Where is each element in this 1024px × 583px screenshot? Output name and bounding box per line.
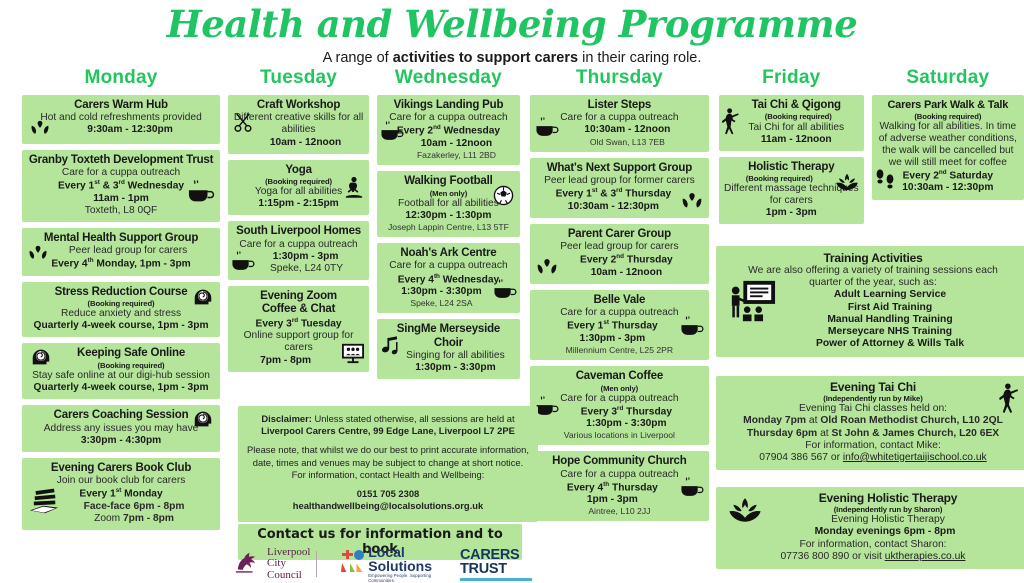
- liver-bird-icon: [232, 549, 262, 580]
- card-desc: Care for a cuppa outreach: [535, 469, 704, 481]
- card-time: 1:30pm - 3pm: [535, 333, 704, 345]
- card-desc: Care for a cuppa outreach: [535, 112, 704, 124]
- disclaimer-box: Disclaimer: Unless stated otherwise, all…: [238, 406, 538, 522]
- card-stress-reduction[interactable]: Stress Reduction Course (Booking require…: [22, 282, 220, 338]
- ct-line2: TRUST: [460, 562, 532, 577]
- card-caveman-coffee[interactable]: Caveman Coffee (Men only) Care for a cup…: [530, 366, 709, 445]
- card-contact-note: For information, contact Sharon:: [722, 539, 1024, 551]
- card-title: Evening Holistic Therapy: [722, 491, 1024, 505]
- card-venue: Millennium Centre, L25 2PR: [535, 345, 704, 355]
- card-belle-vale[interactable]: Belle Vale Care for a cuppa outreach Eve…: [530, 290, 709, 360]
- training-item: Manual Handling Training: [722, 314, 1024, 326]
- card-time: 3:30pm - 4:30pm: [27, 435, 215, 447]
- card-time: 10:30am - 12noon: [535, 124, 704, 136]
- card-evening-tai-chi[interactable]: Evening Tai Chi (Independently run by Mi…: [716, 376, 1024, 470]
- card-evening-book-club[interactable]: Evening Carers Book Club Join our book c…: [22, 458, 220, 530]
- card-desc: Address any issues you may have: [27, 423, 215, 435]
- ls-tagline: Empowering People. Supporting Communitie…: [368, 573, 440, 583]
- card-frequency: Every 3rd Tuesday: [233, 317, 364, 330]
- card-time: 10:30am - 12:30pm: [877, 182, 1019, 194]
- card-title: Carers Park Walk & Talk: [877, 99, 1019, 112]
- card-title: Evening Carers Book Club: [27, 462, 215, 476]
- card-frequency: Every 1st & 3rd Thursday: [535, 187, 704, 200]
- day-heading-thursday: Thursday: [530, 68, 709, 89]
- card-booking-note: (Booking required): [27, 299, 215, 308]
- card-title: SingMe Merseyside Choir: [382, 323, 515, 350]
- card-title: Caveman Coffee: [535, 370, 704, 384]
- card-venue: Joseph Lappin Centre, L13 5TF: [382, 222, 515, 232]
- card-evening-holistic-therapy[interactable]: Evening Holistic Therapy (Independently …: [716, 487, 1024, 569]
- card-desc: Football for all abilities: [382, 198, 515, 210]
- card-frequency: Every 2nd Wednesday: [382, 124, 515, 137]
- card-desc: Care for a cuppa outreach: [27, 167, 215, 179]
- lcc-line2: City Council: [267, 558, 310, 581]
- card-desc: Peer lead group for former carers: [535, 175, 704, 187]
- card-title-line2: Coffee & Chat: [233, 303, 364, 317]
- day-heading-friday: Friday: [719, 68, 864, 89]
- card-desc: Online support group for carers: [233, 330, 364, 354]
- card-time: 11am - 1pm: [27, 193, 215, 205]
- card-granby-toxteth[interactable]: Granby Toxteth Development Trust Care fo…: [22, 150, 220, 222]
- card-booking-note: (Booking required): [27, 361, 215, 370]
- card-subtitle: (Independently run by Sharon): [722, 505, 1024, 514]
- card-desc: Care for a cuppa outreach: [233, 239, 364, 251]
- card-desc: We are also offering a variety of traini…: [722, 265, 1024, 289]
- card-south-liverpool-homes[interactable]: South Liverpool Homes Care for a cuppa o…: [228, 221, 369, 280]
- card-time: 11am - 12noon: [724, 134, 859, 146]
- card-lister-steps[interactable]: Lister Steps Care for a cuppa outreach 1…: [530, 95, 709, 152]
- liverpool-city-council-logo: Liverpool City Council: [232, 547, 310, 582]
- tai-chi-thursday-line: Thursday 6pm at St John & James Church, …: [722, 428, 1024, 440]
- card-desc: Care for a cuppa outreach: [535, 393, 704, 405]
- card-session-facetoface: Face-face 6pm - 8pm: [27, 501, 215, 513]
- card-time: Monday evenings 6pm - 8pm: [722, 526, 1024, 538]
- card-desc: Tai Chi for all abilities: [724, 122, 859, 134]
- card-time: 1pm - 3pm: [535, 494, 704, 506]
- card-title: Craft Workshop: [233, 99, 364, 113]
- card-time: 1:30pm - 3:30pm: [382, 362, 515, 374]
- card-title: Evening Zoom: [233, 290, 364, 304]
- card-frequency: Every 1st Monday: [27, 487, 215, 500]
- training-item: Merseycare NHS Training: [722, 326, 1024, 338]
- card-venue: Speke, L24 0TY: [233, 263, 364, 275]
- tai-chi-email-link[interactable]: info@whitetigertaijischool.co.uk: [843, 452, 987, 463]
- card-desc: Different massage techniques for carers: [724, 183, 859, 207]
- card-desc: Care for a cuppa outreach: [382, 112, 515, 124]
- card-title: What's Next Support Group: [535, 162, 704, 176]
- card-title: Training Activities: [722, 251, 1024, 265]
- card-desc: Peer lead group for carers: [27, 245, 215, 257]
- card-desc: Join our book club for carers: [27, 475, 215, 487]
- card-desc: Walking for all abilities. In time of ad…: [877, 121, 1019, 169]
- card-title: Carers Warm Hub: [27, 99, 215, 113]
- card-frequency: Every 1st Thursday: [535, 319, 704, 332]
- logo-divider: [316, 551, 317, 577]
- card-booking-note: (Booking required): [877, 112, 1019, 121]
- ls-line1: Local: [368, 545, 440, 559]
- card-venue: Old Swan, L13 7EB: [535, 137, 704, 147]
- card-title: Noah's Ark Centre: [382, 247, 515, 261]
- disclaimer-line4: date, times and venues may be subject to…: [246, 457, 530, 469]
- ct-line1: CARERS: [460, 548, 532, 563]
- card-title: Walking Football: [382, 175, 515, 189]
- card-time: 1:30pm - 3:30pm: [535, 418, 704, 430]
- card-carers-warm-hub[interactable]: Carers Warm Hub Hot and cold refreshment…: [22, 95, 220, 144]
- card-booking-note: (Men only): [535, 384, 704, 393]
- card-desc: Stay safe online at our digi-hub session: [27, 370, 215, 382]
- card-yoga[interactable]: Yoga (Booking required) Yoga for all abi…: [228, 160, 369, 216]
- card-time: Quarterly 4-week course, 1pm - 3pm: [27, 320, 215, 332]
- card-venue: Toxteth, L8 0QF: [27, 205, 215, 217]
- disclaimer-phone: 0151 705 2308: [246, 488, 530, 500]
- card-frequency: Every 4th Monday, 1pm - 3pm: [27, 257, 215, 270]
- card-mental-health-support[interactable]: Mental Health Support Group Peer lead gr…: [22, 228, 220, 276]
- card-whats-next-support[interactable]: What's Next Support Group Peer lead grou…: [530, 158, 709, 218]
- subtitle-bold: activities to support carers: [393, 50, 578, 66]
- card-booking-note: (Booking required): [724, 112, 859, 121]
- card-venue: Fazakerley, L11 2BD: [382, 150, 515, 160]
- card-title: Granby Toxteth Development Trust: [27, 154, 215, 168]
- tai-chi-monday-line: Monday 7pm at Old Roan Methodist Church,…: [722, 415, 1024, 427]
- card-title: South Liverpool Homes: [233, 225, 364, 239]
- card-title: Belle Vale: [535, 294, 704, 308]
- disclaimer-email[interactable]: healthandwellbeing@localsolutions.org.uk: [246, 500, 530, 512]
- card-title: Parent Carer Group: [535, 228, 704, 242]
- card-vikings-landing-pub[interactable]: Vikings Landing Pub Care for a cuppa out…: [377, 95, 520, 165]
- card-singme-choir[interactable]: SingMe Merseyside Choir Singing for all …: [377, 319, 520, 379]
- card-booking-note: (Booking required): [233, 177, 364, 186]
- page-title: Health and Wellbeing Programme: [0, 6, 1024, 43]
- card-time: 1:30pm - 3pm: [233, 251, 364, 263]
- page-subtitle: A range of activities to support carers …: [0, 50, 1024, 66]
- training-item: Power of Attorney & Wills Talk: [722, 338, 1024, 350]
- card-desc: Evening Holistic Therapy: [722, 514, 1024, 526]
- disclaimer-line2: Liverpool Carers Centre, 99 Edge Lane, L…: [246, 425, 530, 437]
- card-carers-coaching[interactable]: Carers Coaching Session Address any issu…: [22, 405, 220, 452]
- card-carers-park-walk-talk[interactable]: Carers Park Walk & Talk (Booking require…: [872, 95, 1024, 200]
- card-title: Keeping Safe Online: [27, 347, 215, 361]
- day-heading-wednesday: Wednesday: [377, 68, 520, 89]
- card-title: Yoga: [233, 164, 364, 178]
- local-solutions-logo: Local Solutions Empowering People. Suppo…: [339, 545, 440, 583]
- poster-root: Health and Wellbeing Programme A range o…: [0, 6, 1024, 582]
- disclaimer-line5: For information, contact Health and Well…: [246, 469, 530, 481]
- card-desc: Yoga for all abilities: [233, 186, 364, 198]
- card-time: 10am - 12noon: [382, 138, 515, 150]
- card-venue: Speke, L24 2SA: [382, 298, 515, 308]
- day-heading-saturday: Saturday: [872, 68, 1024, 89]
- card-frequency: Every 4th Thursday: [535, 481, 704, 494]
- card-time: 9:30am - 12:30pm: [27, 124, 215, 136]
- card-subtitle: (Independently run by Mike): [722, 394, 1024, 403]
- card-title: Holistic Therapy: [724, 161, 859, 175]
- card-title: Evening Tai Chi: [722, 380, 1024, 394]
- card-walking-football[interactable]: Walking Football (Men only) Football for…: [377, 171, 520, 237]
- card-title: Mental Health Support Group: [27, 232, 215, 246]
- card-title: Hope Community Church: [535, 455, 704, 469]
- card-frequency: Every 3rd Thursday: [535, 405, 704, 418]
- card-venue: Various locations in Liverpool: [535, 430, 704, 440]
- card-desc: Different creative skills for all abilit…: [233, 112, 364, 136]
- local-solutions-wordmark: Local Solutions Empowering People. Suppo…: [368, 545, 440, 583]
- card-desc: Evening Tai Chi classes held on:: [722, 403, 1024, 415]
- card-title: Vikings Landing Pub: [382, 99, 515, 113]
- ct-underline-bar: [460, 578, 532, 581]
- column-thursday: Thursday Lister Steps Care for a cuppa o…: [530, 68, 709, 536]
- lcc-wordmark: Liverpool City Council: [267, 547, 310, 582]
- card-desc: Peer lead group for carers: [535, 241, 704, 253]
- card-contact-details: 07736 800 890 or visit uktherapies.co.uk: [722, 551, 1024, 563]
- card-desc: Reduce anxiety and stress: [27, 308, 215, 320]
- training-item: First Aid Training: [722, 302, 1024, 314]
- card-time: 12:30pm - 1:30pm: [382, 210, 515, 222]
- training-item: Adult Learning Service: [722, 289, 1024, 301]
- card-tai-chi-qigong[interactable]: Tai Chi & Qigong (Booking required) Tai …: [719, 95, 864, 151]
- local-solutions-mark-icon: [339, 549, 365, 580]
- card-time: 10am - 12noon: [233, 137, 364, 149]
- card-time: 7pm - 8pm: [233, 355, 364, 367]
- card-desc: Hot and cold refreshments provided: [27, 112, 215, 124]
- card-training-activities[interactable]: Training Activities We are also offering…: [716, 246, 1024, 357]
- card-hope-community-church[interactable]: Hope Community Church Care for a cuppa o…: [530, 451, 709, 521]
- card-booking-note: (Booking required): [724, 174, 859, 183]
- card-time: 1:30pm - 3:30pm: [382, 286, 515, 298]
- column-monday: Monday Carers Warm Hub Hot and cold refr…: [22, 68, 220, 536]
- card-session-zoom: Zoom 7pm - 8pm: [27, 513, 215, 525]
- subtitle-pre: A range of: [323, 50, 393, 66]
- card-frequency: Every 1st & 3rd Wednesday: [27, 179, 215, 192]
- card-time: Quarterly 4-week course, 1pm - 3pm: [27, 382, 215, 394]
- card-evening-zoom-coffee-chat[interactable]: Evening Zoom Coffee & Chat Every 3rd Tue…: [228, 286, 369, 372]
- card-time: 10:30am - 12:30pm: [535, 201, 704, 213]
- card-craft-workshop[interactable]: Craft Workshop Different creative skills…: [228, 95, 369, 154]
- card-parent-carer-group[interactable]: Parent Carer Group Peer lead group for c…: [530, 224, 709, 284]
- card-title: Carers Coaching Session: [27, 409, 215, 423]
- card-title: Lister Steps: [535, 99, 704, 113]
- card-frequency: Every 2nd Thursday: [535, 253, 704, 266]
- disclaimer-line1: Disclaimer: Unless stated otherwise, all…: [246, 413, 530, 425]
- card-frequency: Every 4th Wednesday: [382, 273, 515, 286]
- card-holistic-therapy[interactable]: Holistic Therapy (Booking required) Diff…: [719, 157, 864, 225]
- card-time: 10am - 12noon: [535, 267, 704, 279]
- disclaimer-line3: Please note, that whilst we do our best …: [246, 444, 530, 456]
- card-contact-note: For information, contact Mike:: [722, 440, 1024, 452]
- card-desc: Singing for all abilities: [382, 350, 515, 362]
- day-heading-tuesday: Tuesday: [228, 68, 369, 89]
- card-title: Tai Chi & Qigong: [724, 99, 859, 113]
- card-time: 1pm - 3pm: [724, 207, 859, 219]
- card-booking-note: (Men only): [382, 189, 515, 198]
- subtitle-post: in their caring role.: [578, 50, 701, 66]
- card-venue: Aintree, L10 2JJ: [535, 506, 704, 516]
- card-desc: Care for a cuppa outreach: [382, 260, 515, 272]
- day-heading-monday: Monday: [22, 68, 220, 89]
- ls-line2: Solutions: [368, 559, 440, 573]
- card-title: Stress Reduction Course: [27, 286, 215, 300]
- holistic-website-link[interactable]: uktherapies.co.uk: [885, 551, 966, 562]
- card-noahs-ark-centre[interactable]: Noah's Ark Centre Care for a cuppa outre…: [377, 243, 520, 313]
- card-frequency: Every 2nd Saturday: [877, 169, 1019, 182]
- card-keeping-safe-online[interactable]: Keeping Safe Online (Booking required) S…: [22, 343, 220, 399]
- card-time: 1:15pm - 2:15pm: [233, 198, 364, 210]
- card-contact-details: 07904 386 567 or info@whitetigertaijisch…: [722, 452, 1024, 464]
- card-desc: Care for a cuppa outreach: [535, 307, 704, 319]
